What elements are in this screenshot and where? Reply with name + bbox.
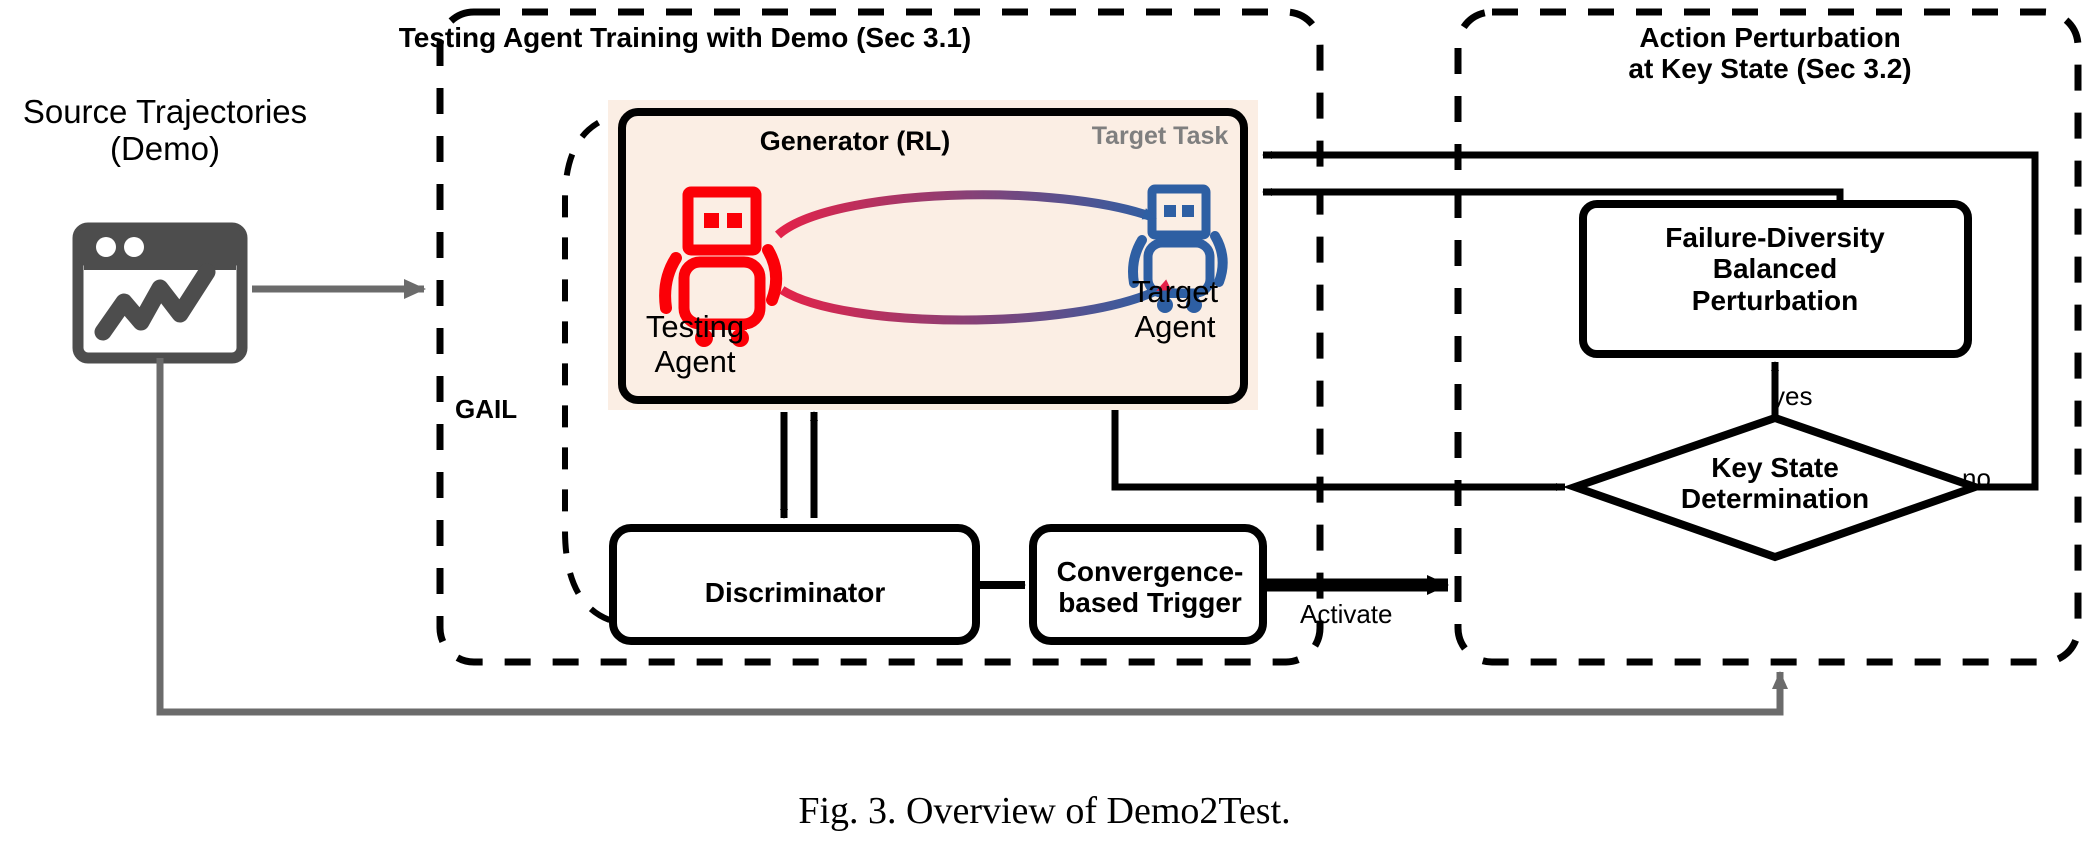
figure-root: Source Trajectories (Demo) Testing Agent… <box>0 0 2089 854</box>
generator-title: Generator (RL) <box>690 126 1020 156</box>
activate-label: Activate <box>1300 600 1480 629</box>
perturbation-box-label: Failure-Diversity Balanced Perturbation <box>1585 222 1965 316</box>
panel-training-title: Testing Agent Training with Demo (Sec 3.… <box>395 22 975 53</box>
arrow-trigger-to-decision <box>1115 410 1565 487</box>
target-agent-label: Target Agent <box>1080 275 1270 344</box>
decision-no-label: no <box>1962 464 2032 493</box>
testing-agent-label: Testing Agent <box>600 310 790 379</box>
gail-label: GAIL <box>455 395 565 424</box>
key-state-determination-label: Key State Determination <box>1590 452 1960 515</box>
discriminator-label: Discriminator <box>615 577 975 608</box>
decision-yes-label: yes <box>1772 382 1842 411</box>
window-chart-icon <box>78 228 242 358</box>
panel-perturbation-title: Action Perturbation at Key State (Sec 3.… <box>1490 22 2050 85</box>
figure-caption: Fig. 3. Overview of Demo2Test. <box>0 790 2089 833</box>
trigger-label: Convergence- based Trigger <box>1035 556 1265 619</box>
target-task-label: Target Task <box>1060 122 1260 150</box>
source-trajectories-title: Source Trajectories (Demo) <box>0 94 330 168</box>
